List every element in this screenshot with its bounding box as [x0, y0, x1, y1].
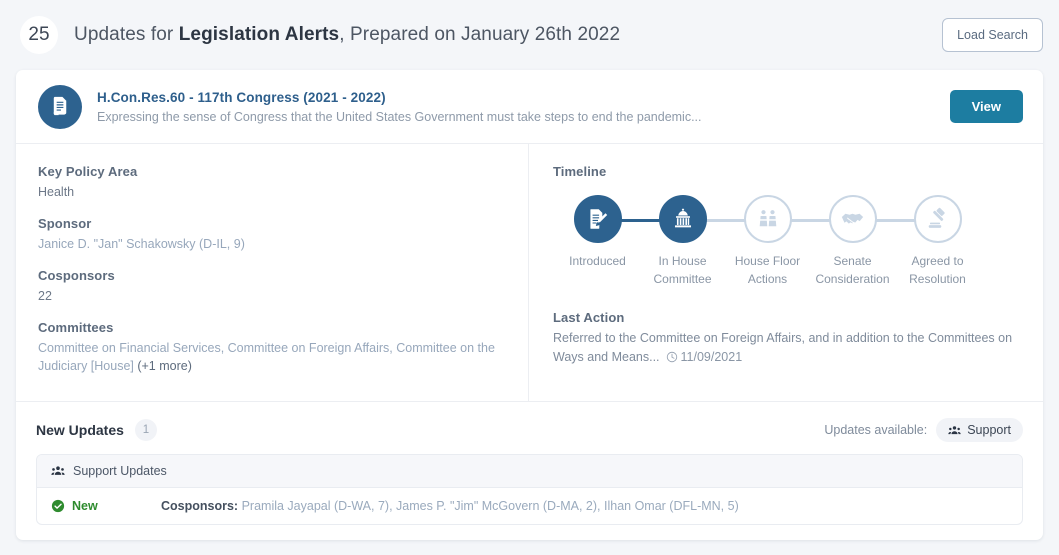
timeline-step-circle: [914, 195, 962, 243]
new-updates-header: New Updates 1 Updates available:: [36, 418, 1023, 442]
support-updates-table: Support Updates New Cosponsors: Pramila …: [36, 454, 1023, 525]
timeline-step-label: Agreed to Resolution: [895, 252, 980, 288]
bill-timeline-column: Timeline Introduced: [529, 144, 1043, 401]
capitol-building-icon: [670, 206, 696, 232]
timeline-label: Timeline: [553, 164, 1021, 179]
sponsor-value[interactable]: Janice D. "Jan" Schakowsky (D-IL, 9): [38, 235, 506, 253]
support-pill-label: Support: [967, 423, 1011, 437]
podium-speakers-icon: [756, 207, 780, 231]
cosponsors-value: 22: [38, 287, 506, 305]
timeline-step-circle: [744, 195, 792, 243]
timeline-steps: Introduced: [553, 195, 1021, 288]
last-action-block: Last Action Referred to the Committee on…: [553, 310, 1021, 367]
new-updates-section: New Updates 1 Updates available:: [16, 402, 1043, 525]
committees-more-link[interactable]: (+1 more): [134, 359, 192, 373]
last-action-text: Referred to the Committee on Foreign Aff…: [553, 331, 1012, 364]
updates-available-label: Updates available:: [824, 423, 927, 437]
cosponsors-label: Cosponsors: [38, 268, 506, 283]
row-content: Cosponsors: Pramila Jayapal (D-WA, 7), J…: [161, 499, 739, 513]
sponsor-label: Sponsor: [38, 216, 506, 231]
clock-icon: [666, 351, 678, 363]
timeline-step-agreed-to-resolution[interactable]: Agreed to Resolution: [895, 195, 980, 288]
document-pencil-icon: [585, 206, 611, 232]
view-button[interactable]: View: [950, 90, 1023, 123]
timeline-step-label: In House Committee: [640, 252, 725, 288]
timeline-step-circle: [659, 195, 707, 243]
timeline-step-label: House Floor Actions: [725, 252, 810, 288]
committees-value-wrap: Committee on Financial Services, Committ…: [38, 339, 506, 375]
status-label: New: [72, 499, 98, 513]
support-updates-header-label: Support Updates: [73, 464, 167, 478]
field-sponsor: Sponsor Janice D. "Jan" Schakowsky (D-IL…: [38, 216, 506, 253]
timeline-step-house-floor-actions[interactable]: House Floor Actions: [725, 195, 810, 288]
load-search-button[interactable]: Load Search: [942, 18, 1043, 52]
committees-value[interactable]: Committee on Financial Services, Committ…: [38, 341, 495, 373]
last-action-label: Last Action: [553, 310, 1021, 325]
handshake-icon: [840, 207, 865, 232]
last-action-text-wrap: Referred to the Committee on Foreign Aff…: [553, 329, 1021, 367]
page-title-suffix: , Prepared on January 26th 2022: [339, 24, 620, 45]
bill-card: H.Con.Res.60 - 117th Congress (2021 - 20…: [16, 70, 1043, 540]
support-filter-pill[interactable]: Support: [936, 418, 1023, 442]
bill-card-header: H.Con.Res.60 - 117th Congress (2021 - 20…: [16, 70, 1043, 143]
committees-label: Committees: [38, 320, 506, 335]
updates-available-group: Updates available: Support: [824, 418, 1023, 442]
row-field-value[interactable]: Pramila Jayapal (D-WA, 7), James P. "Jim…: [242, 499, 739, 513]
field-key-policy-area: Key Policy Area Health: [38, 164, 506, 201]
bill-text-block: H.Con.Res.60 - 117th Congress (2021 - 20…: [97, 90, 702, 124]
document-bill-icon: [38, 85, 82, 129]
new-updates-count-badge: 1: [135, 419, 157, 441]
timeline-step-senate-consideration[interactable]: Senate Consideration: [810, 195, 895, 288]
new-updates-title: New Updates: [36, 422, 124, 438]
page-title-alert-name: Legislation Alerts: [179, 24, 340, 45]
key-policy-area-label: Key Policy Area: [38, 164, 506, 179]
support-updates-table-header: Support Updates: [37, 455, 1022, 488]
timeline-step-introduced[interactable]: Introduced: [555, 195, 640, 288]
page-title-prefix: Updates for: [74, 24, 179, 45]
timeline-step-circle: [574, 195, 622, 243]
page-header: 25 Updates for Legislation Alerts, Prepa…: [0, 0, 1059, 70]
users-group-icon: [51, 464, 65, 478]
timeline-step-label: Introduced: [569, 252, 626, 270]
users-group-icon: [948, 424, 961, 437]
field-committees: Committees Committee on Financial Servic…: [38, 320, 506, 375]
gavel-icon: [925, 207, 950, 232]
bill-card-body: Key Policy Area Health Sponsor Janice D.…: [16, 144, 1043, 401]
key-policy-area-value: Health: [38, 183, 506, 201]
check-circle-icon: [51, 499, 65, 513]
timeline-step-in-house-committee[interactable]: In House Committee: [640, 195, 725, 288]
row-field-label: Cosponsors:: [161, 499, 238, 513]
timeline-step-circle: [829, 195, 877, 243]
update-count-badge: 25: [20, 16, 58, 54]
table-row: New Cosponsors: Pramila Jayapal (D-WA, 7…: [37, 488, 1022, 524]
timeline-step-label: Senate Consideration: [810, 252, 895, 288]
bill-details-column: Key Policy Area Health Sponsor Janice D.…: [16, 144, 529, 401]
status-badge: New: [51, 499, 161, 513]
page-title: Updates for Legislation Alerts, Prepared…: [74, 24, 620, 46]
last-action-date: 11/09/2021: [681, 350, 743, 364]
field-cosponsors: Cosponsors 22: [38, 268, 506, 305]
bill-title[interactable]: H.Con.Res.60 - 117th Congress (2021 - 20…: [97, 90, 702, 105]
bill-description: Expressing the sense of Congress that th…: [97, 110, 702, 124]
